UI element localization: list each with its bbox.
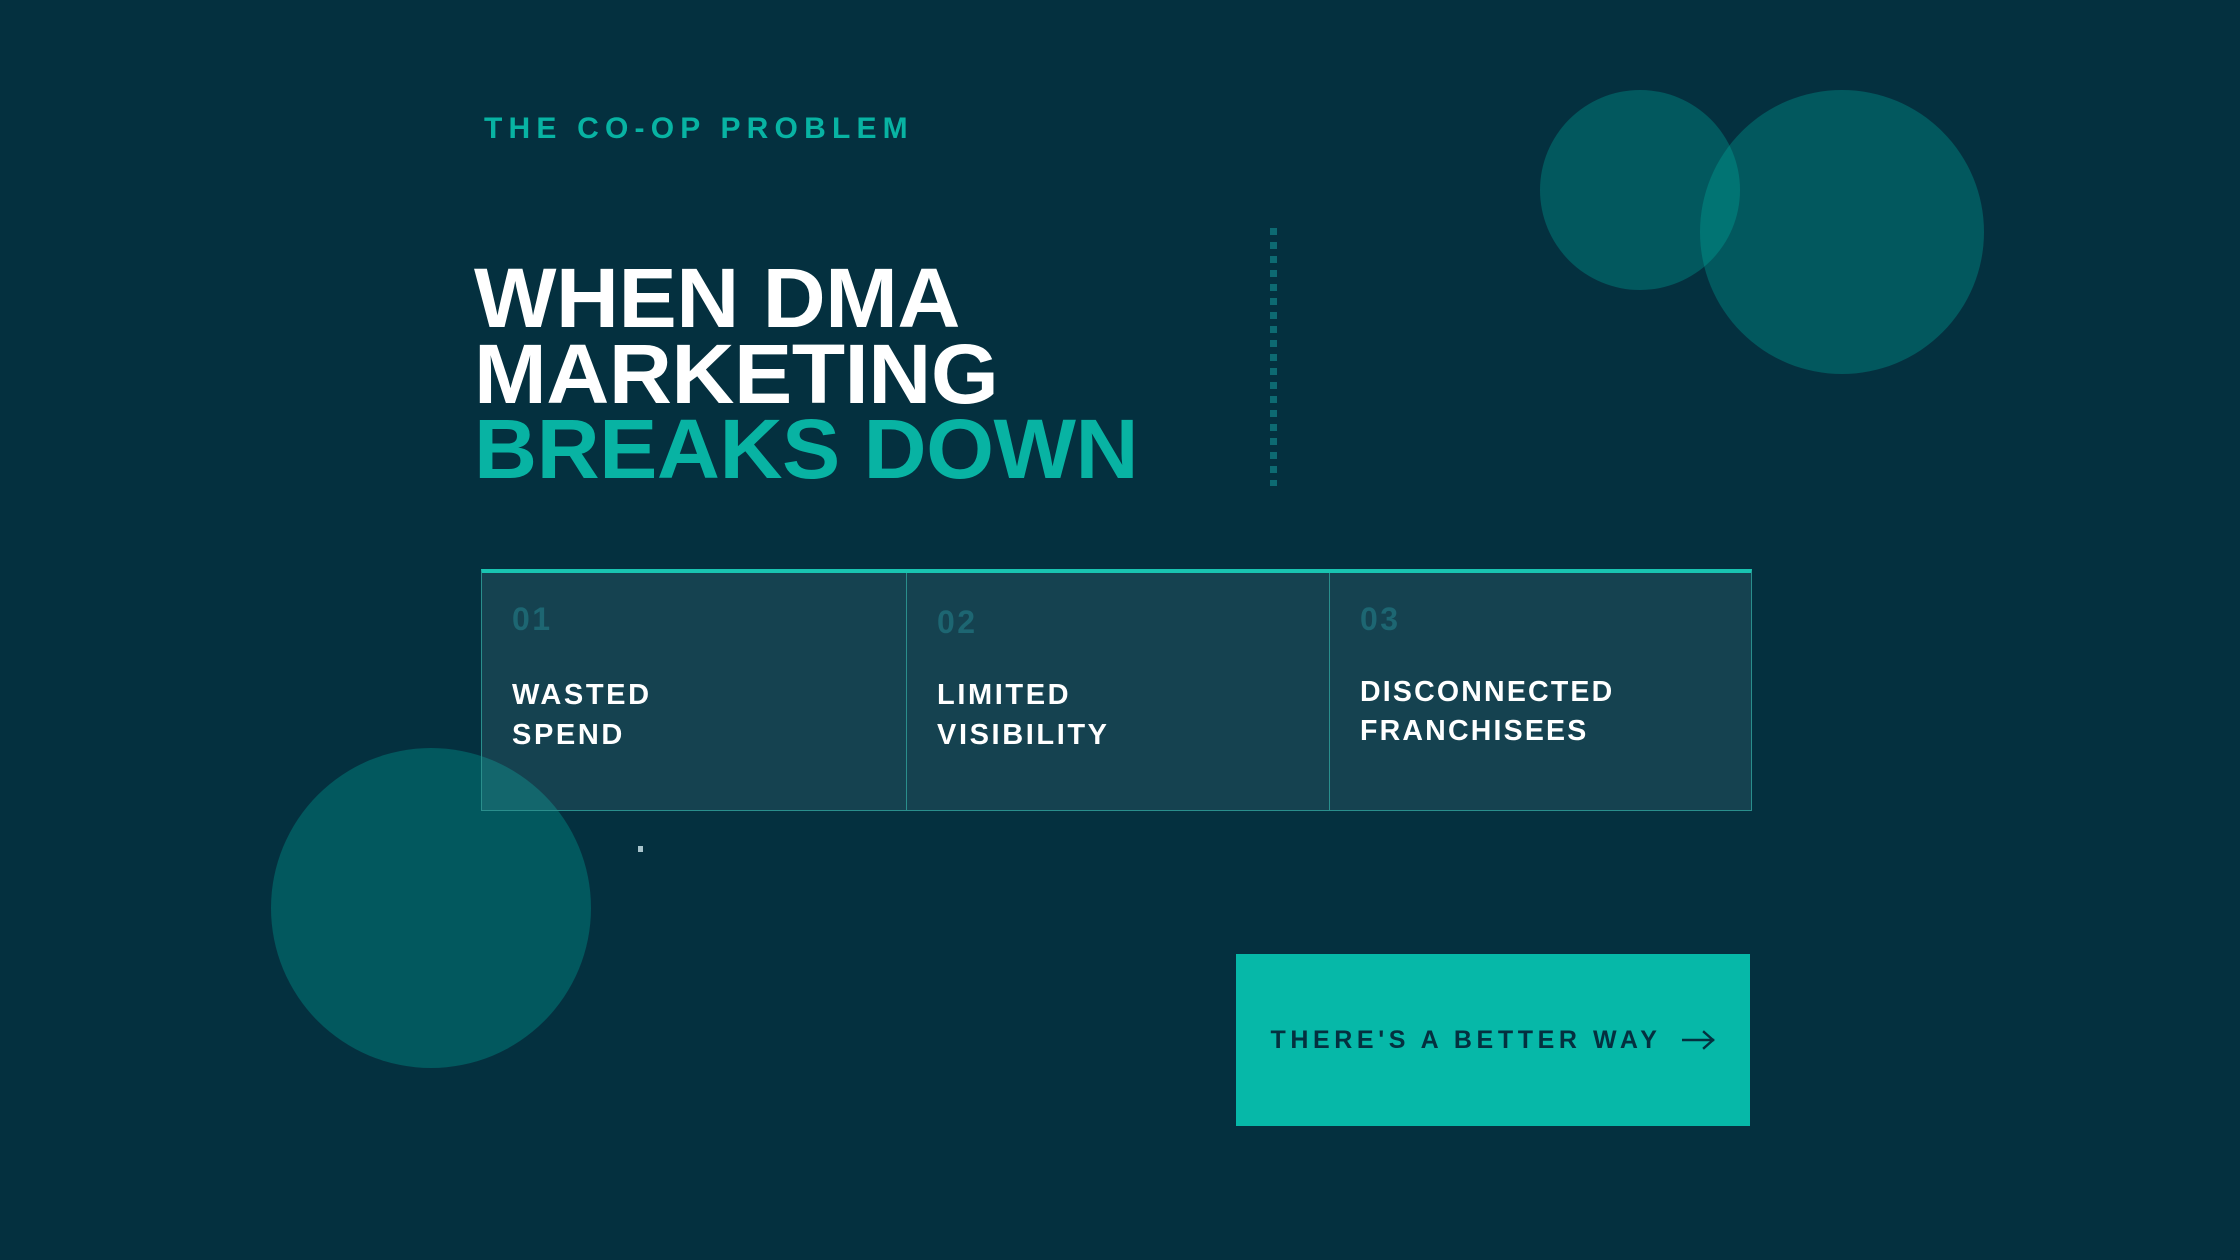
stray-dot-artifact <box>638 846 643 852</box>
page-title: WHEN DMA MARKETING BREAKS DOWN <box>474 261 1113 488</box>
headline-line-3-accent: BREAKS DOWN <box>474 412 1138 488</box>
eyebrow-label: THE CO-OP PROBLEM <box>484 112 914 146</box>
problem-card-group: 01 WASTED SPEND 02 LIMITED VISIBILITY 03… <box>481 569 1752 811</box>
decorative-circle-top-right-large <box>1700 90 1984 374</box>
problem-card-03[interactable]: 03 DISCONNECTED FRANCHISEES <box>1330 573 1751 810</box>
headline-line-2: MARKETING <box>474 337 1138 413</box>
headline-line-1: WHEN DMA <box>474 261 1138 337</box>
card-title: LIMITED VISIBILITY <box>937 675 1299 755</box>
problem-card-02[interactable]: 02 LIMITED VISIBILITY <box>907 573 1330 810</box>
cta-label: THERE'S A BETTER WAY <box>1270 1026 1661 1055</box>
card-title: DISCONNECTED FRANCHISEES <box>1360 673 1721 752</box>
arrow-right-icon <box>1682 1029 1716 1051</box>
dotted-vertical-divider-icon <box>1270 228 1277 486</box>
decorative-circle-top-right-small <box>1540 90 1740 290</box>
card-number: 03 <box>1360 603 1721 635</box>
slide-canvas: THE CO-OP PROBLEM WHEN DMA MARKETING BRE… <box>0 0 2240 1260</box>
cta-better-way-button[interactable]: THERE'S A BETTER WAY <box>1236 954 1750 1126</box>
card-title: WASTED SPEND <box>512 675 876 755</box>
card-number: 02 <box>937 606 1299 638</box>
cta-content: THERE'S A BETTER WAY <box>1270 1026 1715 1055</box>
problem-card-01[interactable]: 01 WASTED SPEND <box>482 573 907 810</box>
card-number: 01 <box>512 603 876 635</box>
